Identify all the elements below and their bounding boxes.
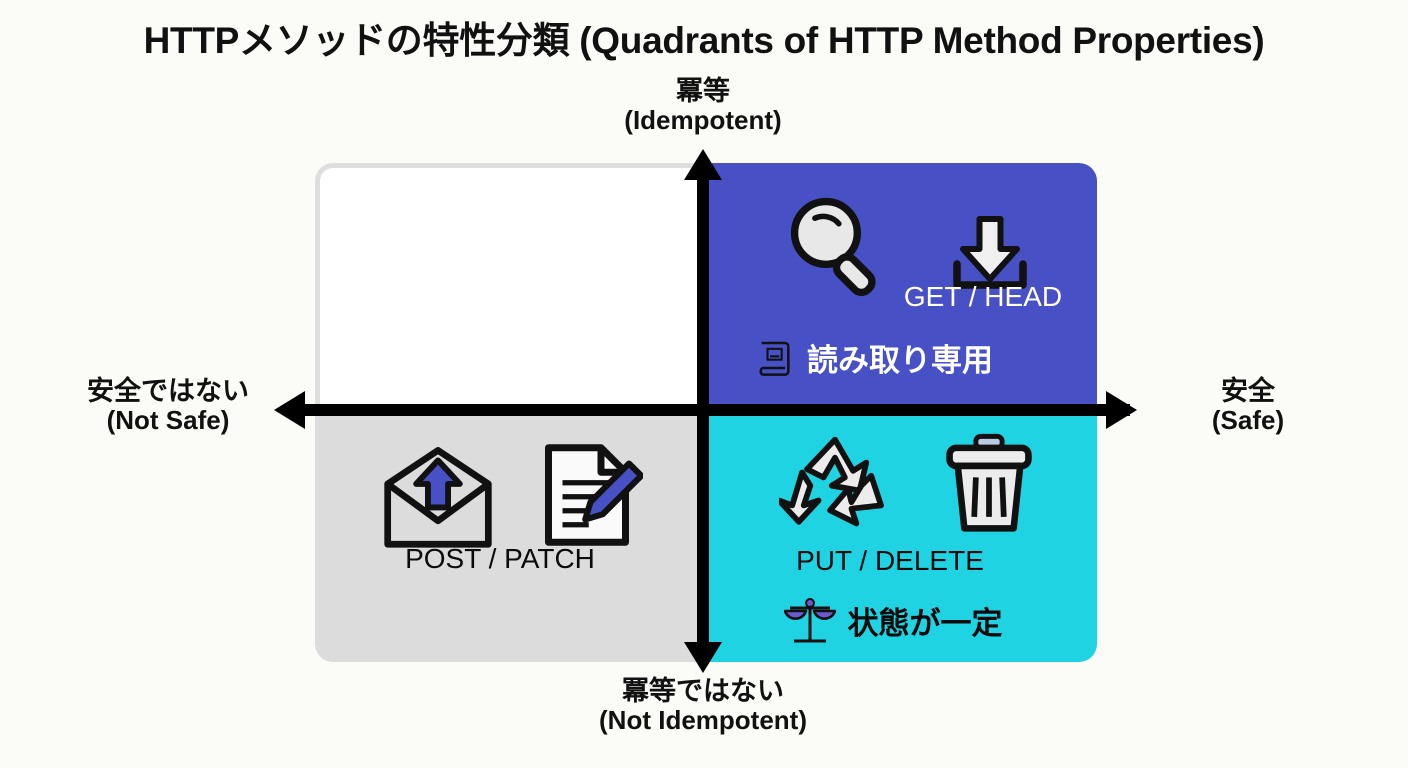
horizontal-axis-line xyxy=(288,404,1130,416)
method-label-put-delete: PUT / DELETE xyxy=(725,545,1055,577)
axis-label-right: 安全 (Safe) xyxy=(1148,376,1348,435)
arrow-up-icon xyxy=(684,149,722,180)
arrow-right-icon xyxy=(1106,391,1137,429)
axis-label-bottom-en: (Not Idempotent) xyxy=(553,706,853,735)
diagram-canvas: HTTPメソッドの特性分類 (Quadrants of HTTP Method … xyxy=(0,0,1408,768)
bottom-right-icon-row xyxy=(747,433,1067,535)
document-edit-icon xyxy=(531,439,643,551)
method-label-post-patch: POST / PATCH xyxy=(335,543,665,575)
axis-label-left-jp: 安全ではない xyxy=(48,376,288,406)
bottom-left-icon-row xyxy=(351,439,671,551)
axis-label-right-jp: 安全 xyxy=(1148,376,1348,406)
envelope-upload-icon xyxy=(379,447,497,551)
trash-icon xyxy=(943,433,1035,535)
vertical-axis-line xyxy=(697,176,709,660)
magnifier-icon xyxy=(778,185,896,303)
axis-label-left-en: (Not Safe) xyxy=(48,406,288,435)
quadrant-safe-not-idempotent: PUT / DELETE 状態が一定 xyxy=(703,411,1097,662)
tagline-text-read-only: 読み取り専用 xyxy=(807,335,993,380)
quadrant-safe-idempotent: GET / HEAD 読み取り専用 xyxy=(703,163,1097,411)
top-right-tagline: 読み取り専用 xyxy=(715,335,1055,380)
axis-label-bottom-jp: 冪等ではない xyxy=(553,676,853,706)
quadrant-not-safe-not-idempotent: POST / PATCH xyxy=(315,411,705,662)
axis-label-right-en: (Safe) xyxy=(1148,406,1348,435)
axis-label-bottom: 冪等ではない (Not Idempotent) xyxy=(553,676,853,735)
axis-label-left: 安全ではない (Not Safe) xyxy=(48,376,288,435)
axis-label-top-jp: 冪等 xyxy=(553,76,853,106)
arrow-down-icon xyxy=(684,642,722,673)
book-icon xyxy=(755,338,795,378)
scales-icon xyxy=(784,595,836,645)
recycle-icon xyxy=(779,433,891,535)
tagline-text-state-constant: 状態が一定 xyxy=(848,598,1003,643)
quadrant-not-safe-idempotent xyxy=(315,163,705,411)
method-label-get-head: GET / HEAD xyxy=(883,281,1083,313)
axis-label-top-en: (Idempotent) xyxy=(553,106,853,135)
bottom-right-tagline: 状態が一定 xyxy=(723,595,1063,645)
page-title: HTTPメソッドの特性分類 (Quadrants of HTTP Method … xyxy=(0,10,1408,64)
axis-label-top: 冪等 (Idempotent) xyxy=(553,76,853,135)
